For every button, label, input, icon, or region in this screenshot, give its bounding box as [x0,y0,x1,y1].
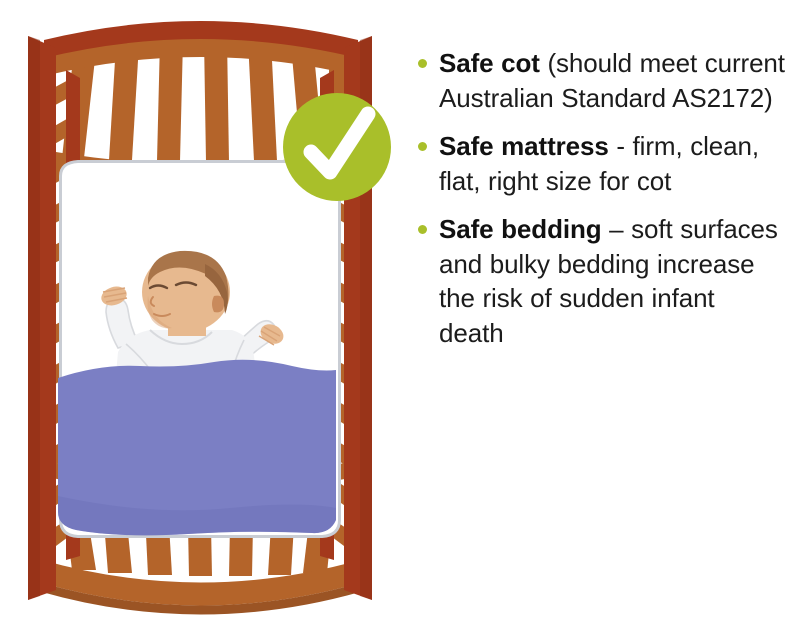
infographic-page: Safe cot (should meet current Australian… [0,0,800,625]
list-item: Safe mattress - firm, clean, flat, right… [418,129,786,198]
list-item: Safe bedding – soft surfaces and bulky b… [418,212,786,350]
bullet-lead: Safe mattress [439,131,616,161]
bullet-lead: Safe cot [439,48,547,78]
blanket [58,360,336,536]
bullet-dot-icon [418,225,427,234]
list-item: Safe cot (should meet current Australian… [418,46,786,115]
bullet-text: Safe cot (should meet current Australian… [439,46,786,115]
check-badge [283,93,391,201]
bullet-text: Safe mattress - firm, clean, flat, right… [439,129,786,198]
safe-sleeping-bullet-list: Safe cot (should meet current Australian… [418,46,786,365]
bullet-dot-icon [418,59,427,68]
safe-cot-illustration [0,0,400,625]
bullet-text: Safe bedding – soft surfaces and bulky b… [439,212,786,350]
bullet-lead: Safe bedding [439,214,609,244]
bullet-dot-icon [418,142,427,151]
